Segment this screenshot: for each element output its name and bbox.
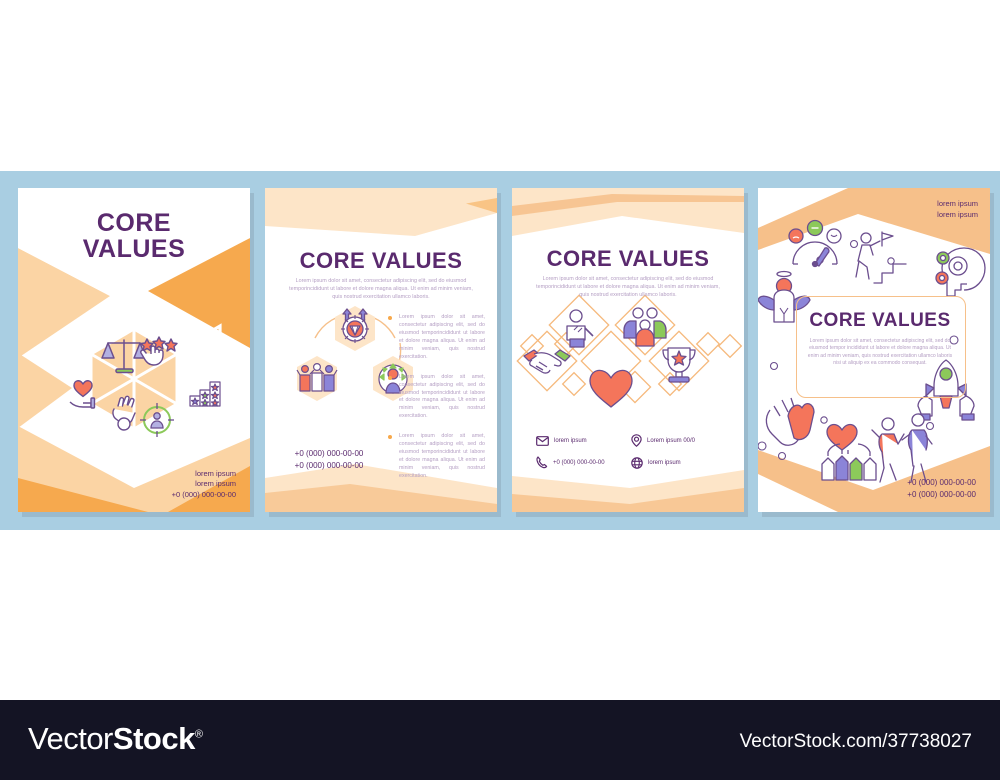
location-pin-icon xyxy=(631,434,642,447)
globe-icon xyxy=(631,457,643,469)
panel-4-illustrated-cover[interactable]: lorem ipsum lorem ipsum CORE VALUES Lore… xyxy=(758,188,990,512)
panel-4-body: Lorem ipsum dolor sit amet, consectetur … xyxy=(806,338,954,368)
phone-icon xyxy=(536,456,548,469)
contact-text: lorem ipsum xyxy=(648,460,681,466)
vectorstock-url: VectorStock.com/37738027 xyxy=(740,731,972,753)
panel-3-body: Lorem ipsum dolor sit amet, consectetur … xyxy=(536,276,720,299)
panel-2-bullets-page[interactable]: CORE VALUES Lorem ipsum dolor sit amet, … xyxy=(265,188,497,512)
bullet-item: Lorem ipsum dolor sit amet, consectetur … xyxy=(387,314,485,362)
contact-text: Lorem ipsum 00/0 xyxy=(647,438,695,444)
topright-line: lorem ipsum xyxy=(937,198,978,209)
phone-line: +0 (000) 000-00-00 xyxy=(907,489,976,501)
contact-item-address[interactable]: Lorem ipsum 00/0 xyxy=(631,434,726,447)
panel-2-title: CORE VALUES xyxy=(265,248,497,274)
contact-phone: +0 (000) 000-00-00 xyxy=(172,490,236,501)
panel-3-contacts-page[interactable]: CORE VALUES Lorem ipsum dolor sit amet, … xyxy=(512,188,744,512)
bullet-item: Lorem ipsum dolor sit amet, consectetur … xyxy=(387,374,485,422)
vectorstock-logo: VectorStock® xyxy=(28,721,202,757)
panel-4-topright-block: lorem ipsum lorem ipsum xyxy=(937,198,978,220)
contact-item-phone[interactable]: +0 (000) 000-00-00 xyxy=(536,456,631,469)
panel-4-phone-block: +0 (000) 000-00-00 +0 (000) 000-00-00 xyxy=(907,477,976,500)
panel-3-title: CORE VALUES xyxy=(512,246,744,272)
panel-1-cover-hexagon[interactable]: COREVALUES lorem ipsum lorem ipsum +0 (0… xyxy=(18,188,250,512)
panel-1-contact-block: lorem ipsum lorem ipsum +0 (000) 000-00-… xyxy=(172,469,236,501)
panel-2-bullet-list: Lorem ipsum dolor sit amet, consectetur … xyxy=(387,314,485,493)
contact-text: +0 (000) 000-00-00 xyxy=(553,460,605,466)
panel-2-body: Lorem ipsum dolor sit amet, consectetur … xyxy=(289,278,473,301)
artboard: COREVALUES lorem ipsum lorem ipsum +0 (0… xyxy=(0,0,1000,780)
phone-line: +0 (000) 000-00-00 xyxy=(277,448,381,460)
bullet-item: Lorem ipsum dolor sit amet, consectetur … xyxy=(387,433,485,481)
phone-line: +0 (000) 000-00-00 xyxy=(277,460,381,472)
panel-4-title: CORE VALUES xyxy=(798,310,962,332)
registered-mark: ® xyxy=(195,729,203,741)
brand-bold: Stock xyxy=(113,721,195,756)
contact-item-website[interactable]: lorem ipsum xyxy=(631,456,726,469)
brand-light: Vector xyxy=(28,721,113,756)
contact-line-2: lorem ipsum xyxy=(172,479,236,490)
topright-line: lorem ipsum xyxy=(937,209,978,220)
phone-line: +0 (000) 000-00-00 xyxy=(907,477,976,489)
group-people-icon xyxy=(297,364,337,391)
contact-text: lorem ipsum xyxy=(554,438,587,444)
contact-item-email[interactable]: lorem ipsum xyxy=(536,434,631,447)
panel-1-title: COREVALUES xyxy=(18,210,250,262)
panel-2-phone-block: +0 (000) 000-00-00 +0 (000) 000-00-00 xyxy=(277,448,381,472)
panel-3-contact-list: lorem ipsum Lorem ipsum 00/0 +0 (000) 00… xyxy=(536,434,726,478)
envelope-icon xyxy=(536,436,549,446)
contact-line-1: lorem ipsum xyxy=(172,469,236,480)
